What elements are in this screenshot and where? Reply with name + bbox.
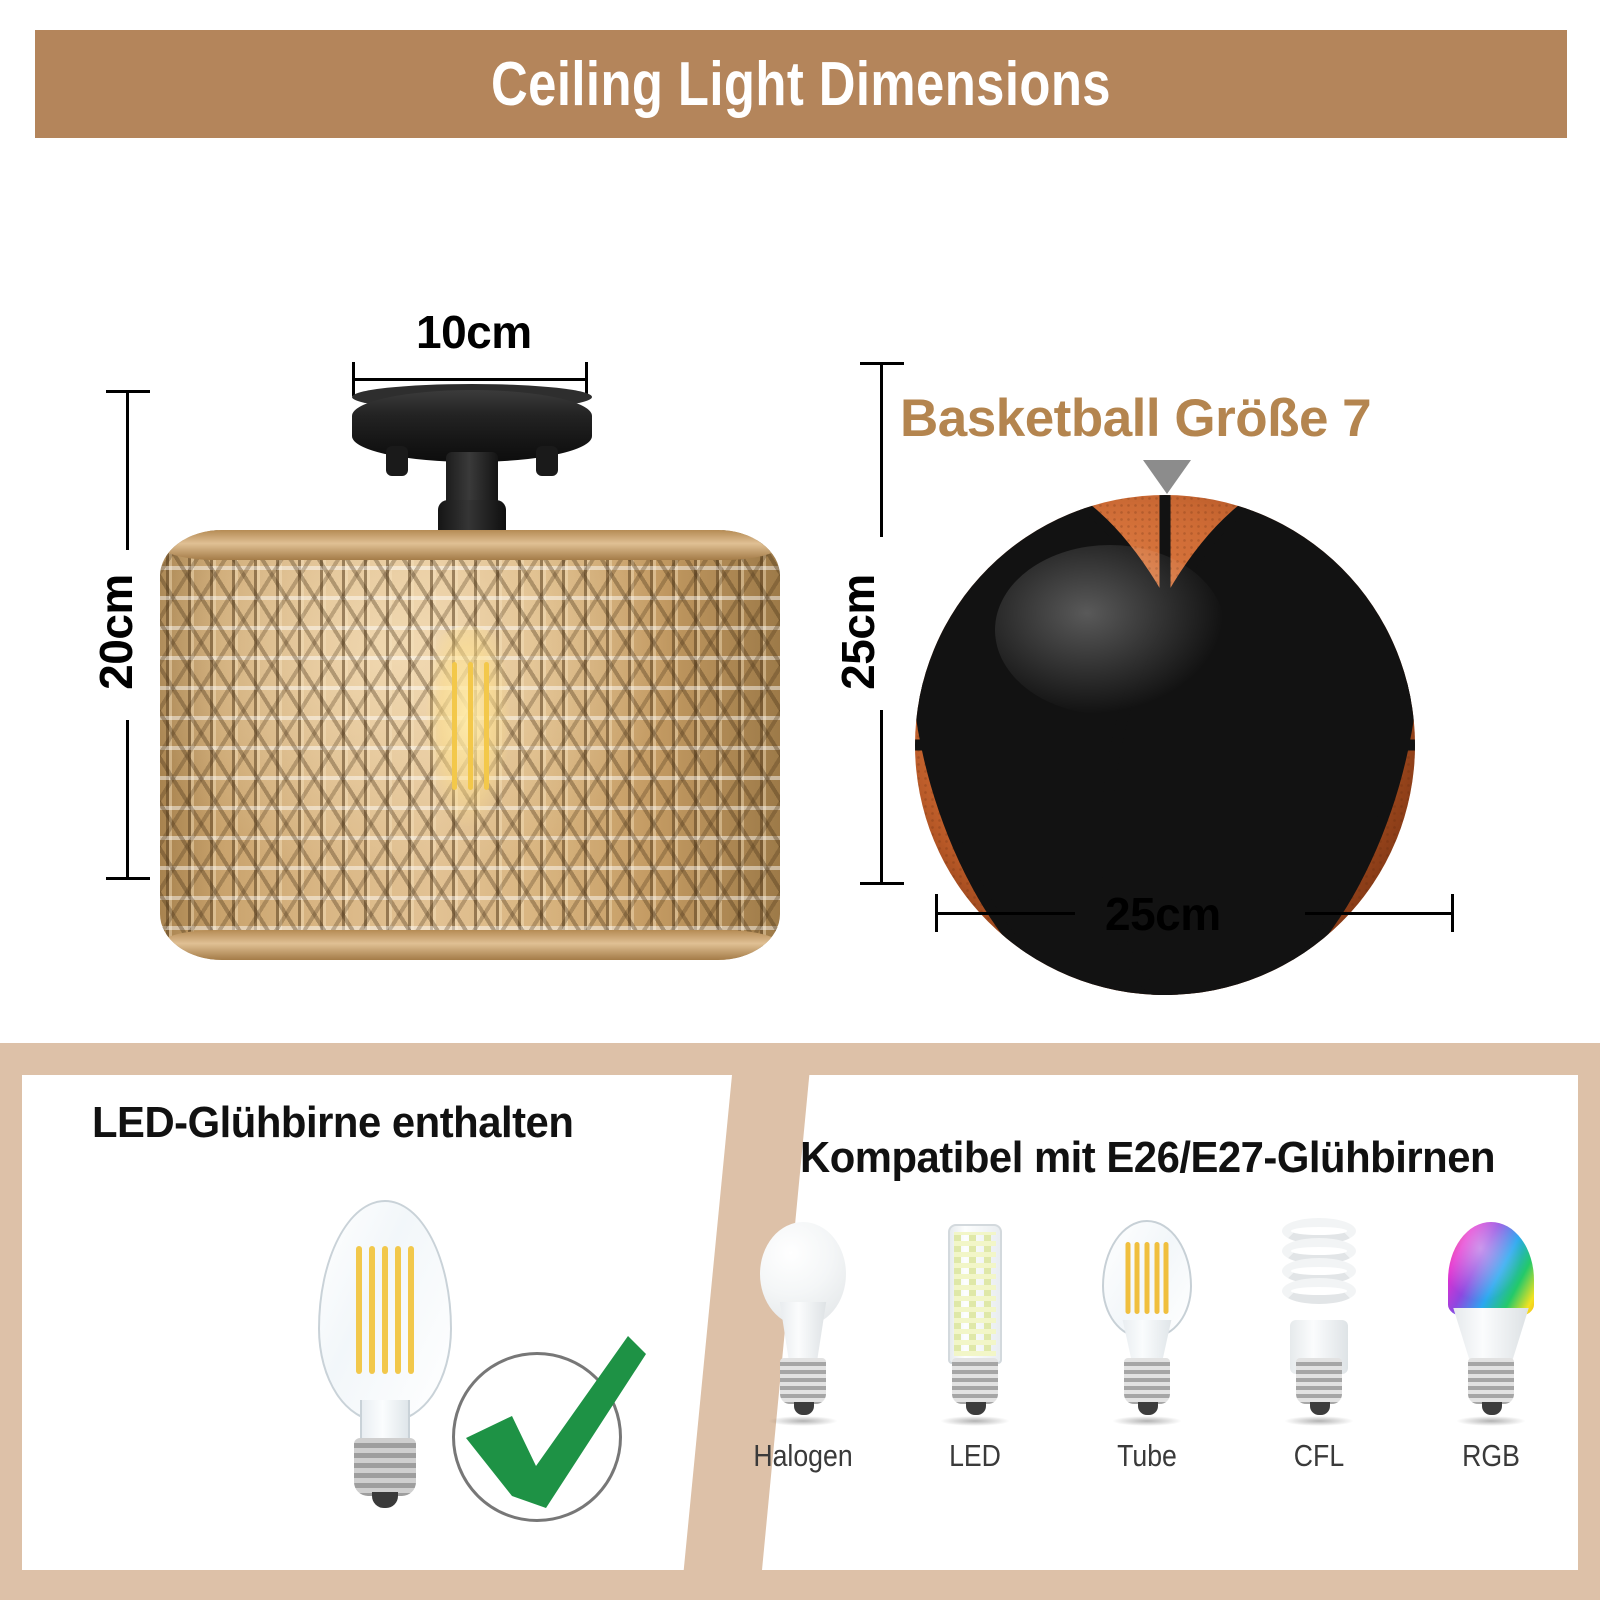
infographic-page: Ceiling Light Dimensions 10cm 20cm 28cm [0,0,1600,1600]
halogen-bulb-icon [718,1216,888,1426]
dim-line-canopy-width [352,378,588,381]
lamp-stem [446,452,498,506]
bulb-item-rgb: RGB [1406,1216,1576,1426]
ceiling-light-image [150,390,790,1010]
canopy-screw-right [536,446,558,476]
bulb-item-halogen: Halogen [718,1216,888,1426]
dim-tick-ball-top [860,362,904,365]
bulb-label-rgb: RGB [1418,1438,1564,1474]
canopy-screw-left [386,446,408,476]
heading-led-included: LED-Glühbirne enthalten [92,1098,573,1148]
dimensions-section: 10cm 20cm 28cm Bas [0,150,1600,1030]
basketball-title: Basketball Größe 7 [900,388,1371,449]
bulb-item-tube: Tube [1062,1216,1232,1426]
heading-compatible-bulbs: Kompatibel mit E26/E27-Glühbirnen [800,1133,1495,1183]
dim-line-ball-height-lower [880,710,883,885]
inner-bulb-glow [426,626,510,826]
checkmark-icon [450,1320,660,1530]
triangle-pointer-icon [1143,460,1191,494]
dim-label-canopy-width: 10cm [416,305,532,359]
dim-tick-ball-left [935,894,938,932]
dim-tick-shade-bottom [106,877,150,880]
bulb-label-cfl: CFL [1246,1438,1392,1474]
dim-line-ball-width-left [935,912,1075,915]
edison-filament [382,1246,388,1374]
edison-neck [360,1400,410,1442]
tube-filament-bulb-icon [1062,1216,1232,1426]
shade-rim-bottom [160,930,780,960]
bulb-label-halogen: Halogen [730,1438,876,1474]
led-corn-bulb-icon [890,1216,1060,1426]
bulb-label-led: LED [902,1438,1048,1474]
edison-screw-base [354,1438,416,1496]
bulb-item-led: LED [890,1216,1060,1426]
dim-line-shade-height-lower [126,720,129,880]
cfl-spiral-bulb-icon [1234,1216,1404,1426]
dim-tick-ball-right [1451,894,1454,932]
rgb-bulb-icon [1406,1216,1576,1426]
dim-label-ball-width: 25cm [1105,887,1221,941]
dim-label-shade-height: 20cm [89,574,143,690]
dim-label-ball-height: 25cm [831,574,885,690]
bulb-item-cfl: CFL [1234,1216,1404,1426]
dim-line-shade-height-upper [126,390,129,550]
basketball-highlight [995,545,1225,715]
included-led-bulb-image [300,1200,470,1500]
shade-rim-top [160,530,780,560]
dim-line-ball-height-upper [880,362,883,537]
page-title: Ceiling Light Dimensions [491,49,1111,120]
dim-tick-ball-bottom [860,882,904,885]
header-banner: Ceiling Light Dimensions [35,30,1567,138]
dim-tick-shade-top [106,390,150,393]
bulb-label-tube: Tube [1074,1438,1220,1474]
dim-line-ball-width-right [1305,912,1453,915]
